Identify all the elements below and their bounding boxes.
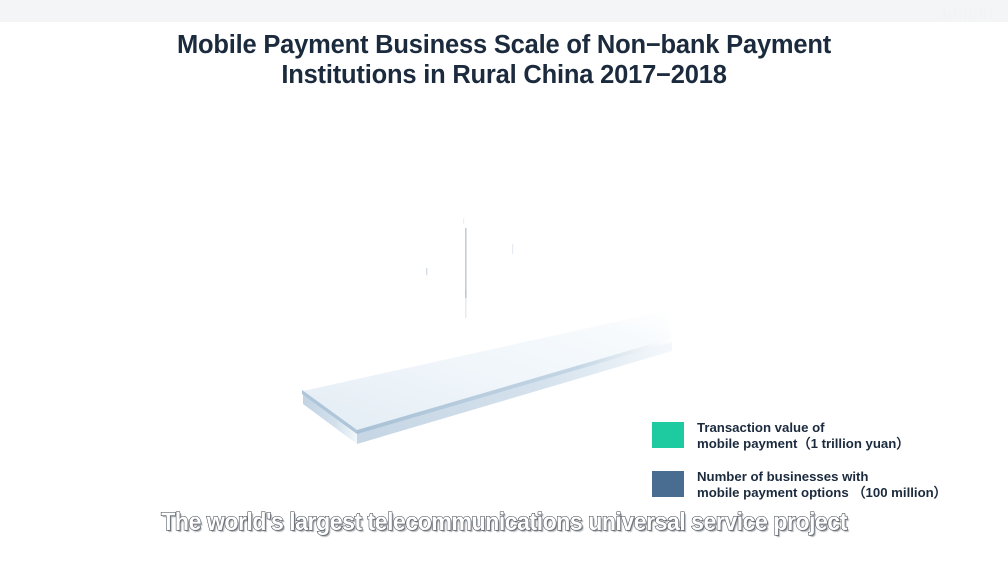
chart-title: Mobile Payment Business Scale of Non−ban…: [0, 30, 1008, 90]
legend-swatch-business-count: [652, 471, 684, 497]
legend-label-line-1: Number of businesses with: [697, 469, 868, 484]
ghost-bar-tick-top: [463, 218, 464, 224]
legend-label-line-1: Transaction value of: [697, 420, 825, 435]
chart-legend: Transaction value of mobile payment（1 tr…: [652, 420, 992, 518]
watermark-text: bilibili: [943, 6, 994, 23]
legend-item-business-count[interactable]: Number of businesses with mobile payment…: [652, 469, 992, 501]
slide-canvas: bilibili Mobile Payment Business Scale o…: [0, 0, 1008, 567]
legend-item-transaction-value[interactable]: Transaction value of mobile payment（1 tr…: [652, 420, 992, 452]
ghost-bar-tick-left: [426, 268, 427, 275]
chart-title-line-2: Institutions in Rural China 2017−2018: [0, 60, 1008, 90]
chart-stage: [0, 100, 1008, 470]
slide-caption: The world's largest telecommunications u…: [35, 508, 972, 537]
ghost-bar-line-main: [465, 228, 467, 298]
top-band: [0, 0, 1008, 22]
ghost-bar-tick-right: [512, 244, 513, 254]
ghost-bar-line-main-fade: [465, 290, 467, 318]
legend-label-line-2: mobile payment（1 trillion yuan）: [697, 436, 910, 452]
isometric-platform: [302, 311, 672, 444]
legend-label-business-count: Number of businesses with mobile payment…: [697, 469, 947, 501]
bar-animation-artifacts: [426, 218, 513, 318]
legend-label-line-2: mobile payment options （100 million）: [697, 485, 947, 501]
legend-label-transaction-value: Transaction value of mobile payment（1 tr…: [697, 420, 910, 452]
platform-top-face: [303, 311, 672, 431]
chart-title-line-1: Mobile Payment Business Scale of Non−ban…: [0, 30, 1008, 60]
legend-swatch-transaction-value: [652, 422, 684, 448]
chart-3d-graphic: [0, 100, 1008, 470]
